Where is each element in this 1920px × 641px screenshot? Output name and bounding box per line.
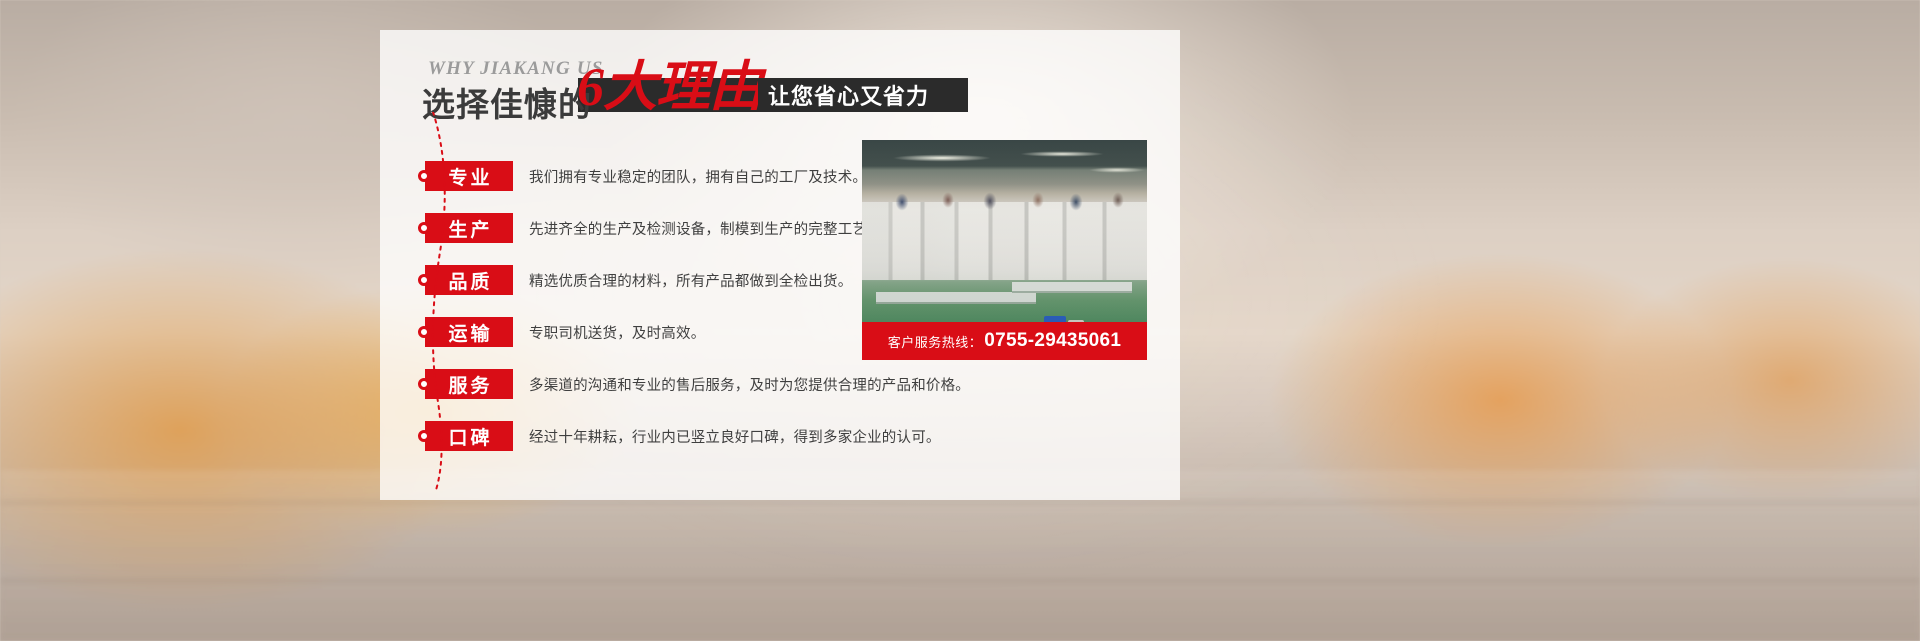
reason-description: 先进齐全的生产及检测设备，制模到生产的完整工艺。: [529, 218, 882, 239]
heading-number-suffix: 大理由: [603, 57, 762, 117]
heading-tail-text: 让您省心又省力: [758, 78, 939, 112]
banner-stage: WHY JIAKANG US 选择佳慷的 6大理由 让您省心又省力 专业 我们拥…: [0, 0, 1920, 641]
reason-description: 精选优质合理的材料，所有产品都做到全检出货。: [529, 270, 852, 291]
heading-number-group: 6大理由: [577, 58, 762, 116]
hotline-number: 0755-29435061: [984, 330, 1121, 352]
list-item: 服务 多渠道的沟通和专业的售后服务，及时为您提供合理的产品和价格。: [425, 358, 1165, 410]
reason-description: 多渠道的沟通和专业的售后服务，及时为您提供合理的产品和价格。: [529, 374, 970, 395]
dotted-connector-line: [430, 112, 452, 490]
hotline-bar: 客户服务热线： 0755-29435061: [862, 322, 1147, 360]
reason-description: 专职司机送货，及时高效。: [529, 322, 705, 343]
heading-number: 6: [577, 57, 603, 117]
reason-description: 我们拥有专业稳定的团队，拥有自己的工厂及技术。: [529, 166, 867, 187]
hotline-label: 客户服务热线：: [888, 332, 983, 351]
list-item: 口碑 经过十年耕耘，行业内已竖立良好口碑，得到多家企业的认可。: [425, 410, 1165, 462]
reason-description: 经过十年耕耘，行业内已竖立良好口碑，得到多家企业的认可。: [529, 426, 941, 447]
